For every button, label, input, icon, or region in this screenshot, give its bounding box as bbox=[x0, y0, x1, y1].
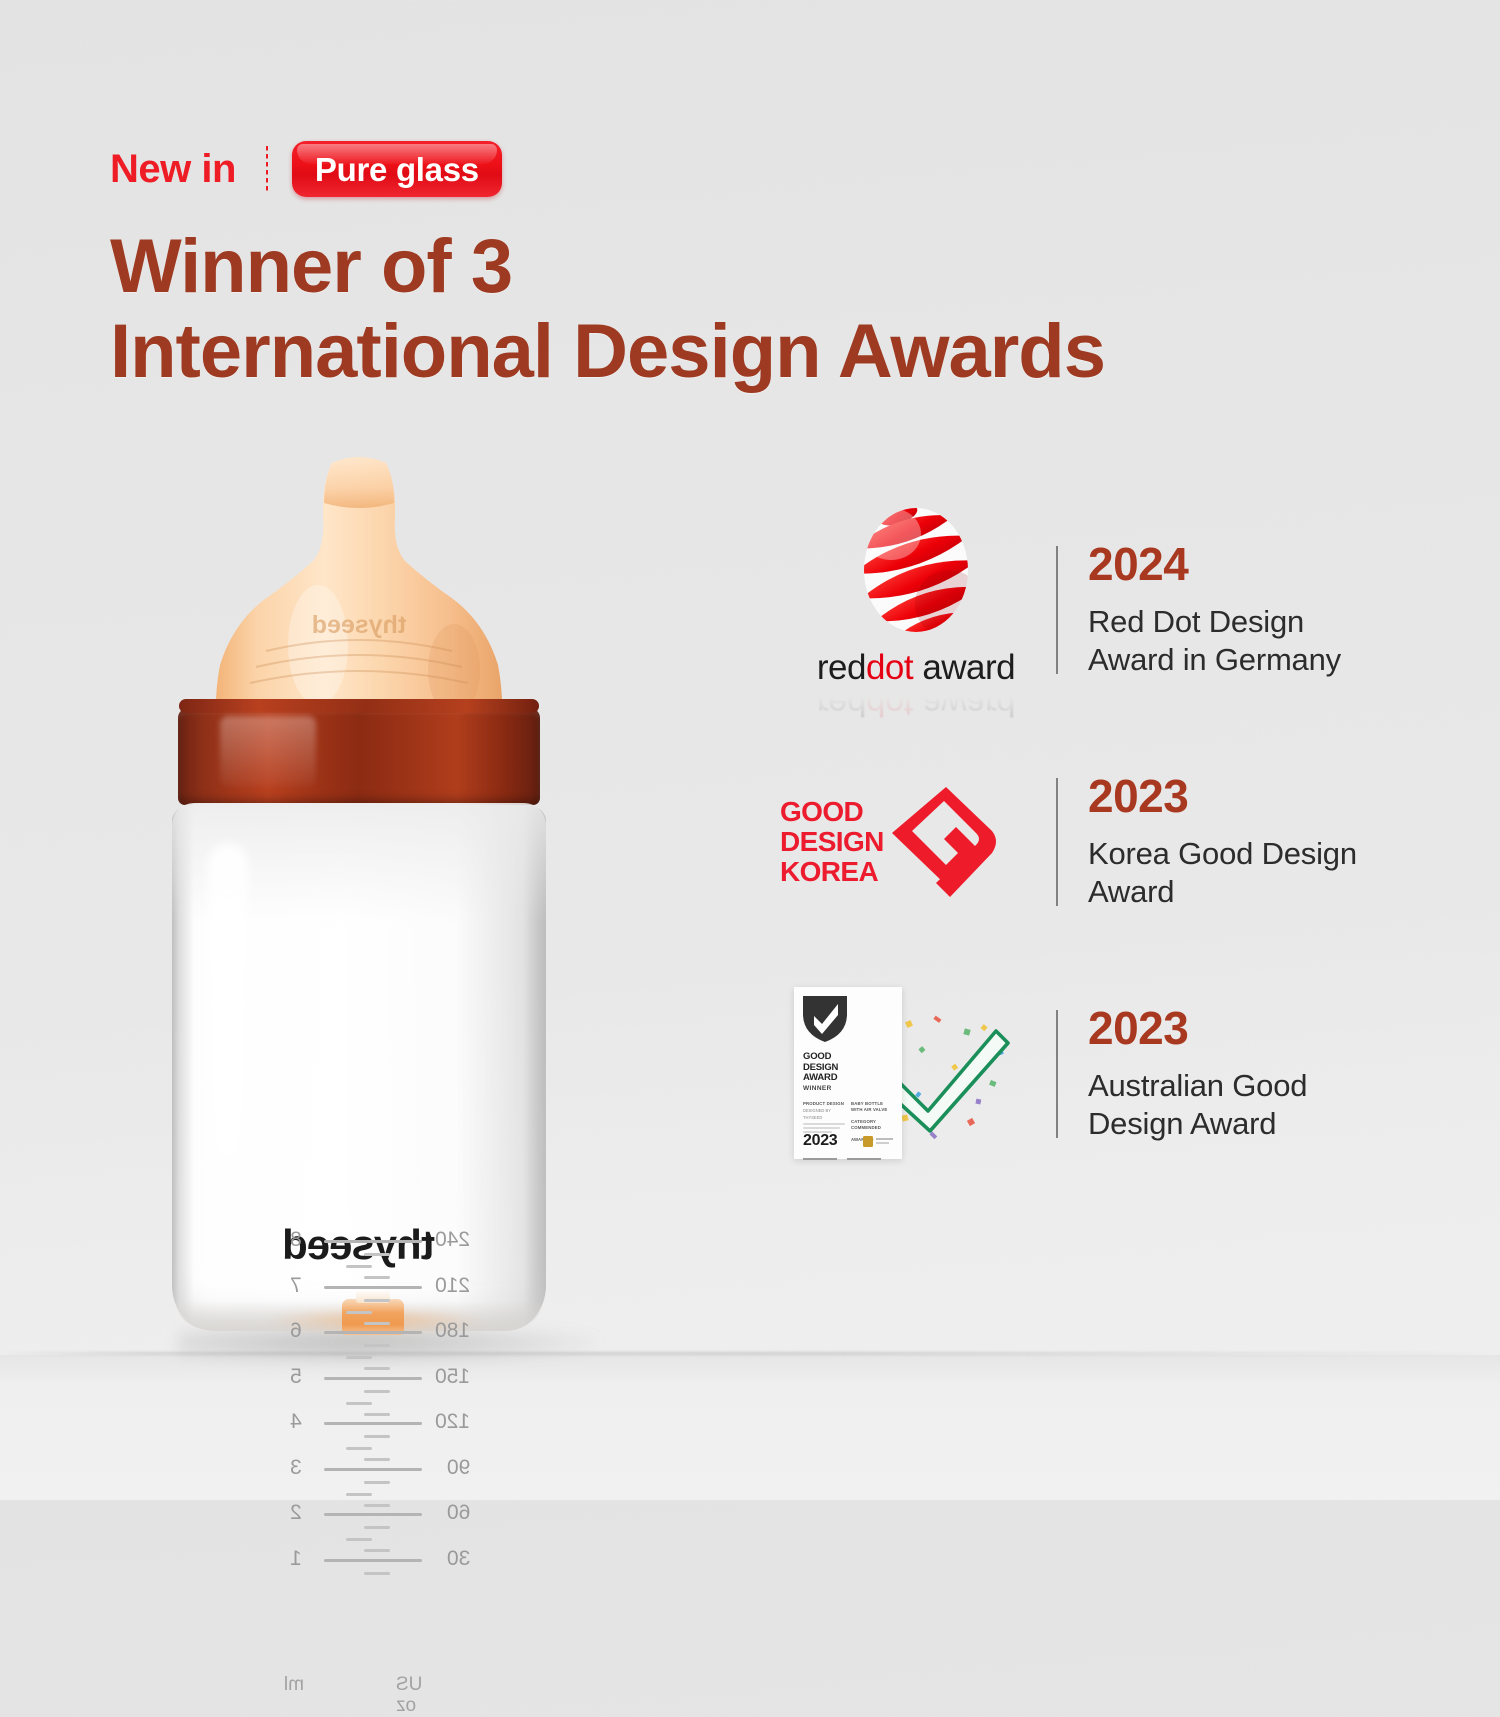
text-placeholder-bar bbox=[803, 1123, 845, 1125]
certificate-field-label-1: PRODUCT DESIGN bbox=[803, 1101, 845, 1107]
scale-oz: 4 bbox=[290, 1411, 302, 1432]
award-description: Australian Good Design Award bbox=[1088, 1067, 1420, 1144]
award-year: 2023 bbox=[1088, 1005, 1420, 1051]
scale-oz: 1 bbox=[290, 1548, 302, 1569]
good-design-korea-logo: GOOD DESIGN KOREA bbox=[780, 737, 1052, 947]
svg-text:thyseed: thyseed bbox=[312, 611, 406, 639]
award-item-good-design-korea: GOOD DESIGN KOREA 2023 Korea Good Design… bbox=[780, 737, 1420, 947]
australian-good-design-award-certificate: GOOD DESIGN AWARD WINNER PRODUCT DESIGN … bbox=[780, 969, 1052, 1179]
scale-ml: 30 bbox=[447, 1548, 470, 1569]
scale-row: 260 bbox=[290, 1514, 470, 1560]
scale-ml: 90 bbox=[447, 1457, 470, 1478]
unit-label-ml: ml bbox=[284, 1675, 304, 1696]
certificate-field-label-4: COMMENDED bbox=[851, 1125, 893, 1131]
good-design-award-checkmark-logo-icon bbox=[803, 996, 847, 1042]
collar-highlight bbox=[220, 716, 316, 786]
header: New in Pure glass Winner of 3 Internatio… bbox=[110, 140, 1105, 394]
reddot-sphere-icon bbox=[841, 500, 991, 648]
award-text: 2024 Red Dot Design Award in Germany bbox=[1088, 541, 1420, 680]
certificate-title: GOOD DESIGN AWARD bbox=[803, 1052, 893, 1084]
award-text: 2023 Australian Good Design Award bbox=[1088, 1005, 1420, 1144]
scale-ml: 180 bbox=[435, 1320, 470, 1341]
pure-glass-badge: Pure glass bbox=[292, 141, 502, 197]
measurement-scale: 8240 7210 6180 5150 4120 390 260 130 bbox=[290, 1241, 470, 1605]
certificate-seal-icon bbox=[863, 1135, 893, 1148]
award-item-australian-good-design: GOOD DESIGN AWARD WINNER PRODUCT DESIGN … bbox=[780, 969, 1420, 1179]
scale-ml: 120 bbox=[435, 1411, 470, 1432]
award-description: Korea Good Design Award bbox=[1088, 835, 1420, 912]
gdk-line-korea: KOREA bbox=[780, 857, 884, 887]
award-divider-rule bbox=[1056, 546, 1058, 674]
scale-row: 130 bbox=[290, 1560, 470, 1606]
scale-oz: 5 bbox=[290, 1366, 302, 1387]
certificate-card: GOOD DESIGN AWARD WINNER PRODUCT DESIGN … bbox=[794, 987, 902, 1159]
scale-oz: 7 bbox=[290, 1275, 302, 1296]
bottle-collar bbox=[178, 708, 540, 805]
scale-oz: 6 bbox=[290, 1320, 302, 1341]
scale-row: 390 bbox=[290, 1469, 470, 1515]
gdk-spiral-monogram-icon bbox=[888, 781, 1000, 903]
scale-ml: 210 bbox=[435, 1275, 470, 1296]
award-year: 2023 bbox=[1088, 773, 1420, 819]
gdk-wordmark: GOOD DESIGN KOREA bbox=[780, 797, 884, 888]
eyebrow-row: New in Pure glass bbox=[110, 140, 1105, 198]
certificate-year: 2023 bbox=[803, 1132, 837, 1150]
bottle-image: thyseed thyseed 8240 7210 6180 5150 4120… bbox=[158, 455, 558, 1380]
award-item-reddot: reddot award reddot award 2024 Red Dot D… bbox=[780, 505, 1420, 715]
certificate-reflection: 2023 bbox=[794, 1161, 1024, 1203]
page-title: Winner of 3 International Design Awards bbox=[110, 224, 1105, 394]
scale-row: 4120 bbox=[290, 1423, 470, 1469]
scale-oz: 3 bbox=[290, 1457, 302, 1478]
reddot-award-logo: reddot award reddot award bbox=[780, 505, 1052, 715]
bottle-glass-body: thyseed 8240 7210 6180 5150 4120 390 260… bbox=[172, 803, 546, 1331]
bottle-nipple: thyseed bbox=[214, 455, 504, 725]
certificate-field-label-2: BABY BOTTLE WITH AIR VALVE bbox=[851, 1101, 893, 1114]
eyebrow-label: New in bbox=[110, 149, 236, 189]
scale-oz: 8 bbox=[290, 1229, 302, 1250]
gdk-line-design: DESIGN bbox=[780, 827, 884, 857]
scale-ml: 60 bbox=[447, 1502, 470, 1523]
scale-ml: 150 bbox=[435, 1366, 470, 1387]
awards-list: reddot award reddot award 2024 Red Dot D… bbox=[780, 505, 1420, 1179]
reddot-wordmark-reflection: reddot award bbox=[791, 686, 1041, 721]
certificate-winner-label: WINNER bbox=[803, 1085, 893, 1092]
award-divider-rule bbox=[1056, 778, 1058, 906]
award-description: Red Dot Design Award in Germany bbox=[1088, 603, 1420, 680]
dotted-vertical-divider-icon bbox=[266, 146, 268, 192]
award-divider-rule bbox=[1056, 1010, 1058, 1138]
gdk-line-good: GOOD bbox=[780, 797, 884, 827]
scale-ml: 240 bbox=[435, 1229, 470, 1250]
unit-label-oz: US oz bbox=[396, 1675, 428, 1717]
glass-highlight bbox=[208, 843, 248, 1273]
pure-glass-badge-label: Pure glass bbox=[315, 153, 479, 186]
award-text: 2023 Korea Good Design Award bbox=[1088, 773, 1420, 912]
award-year: 2024 bbox=[1088, 541, 1420, 587]
text-placeholder-bar bbox=[803, 1127, 840, 1129]
scale-oz: 2 bbox=[290, 1502, 302, 1523]
reddot-wordmark: reddot award bbox=[791, 650, 1041, 685]
certificate-field-value-1: DESIGNED BY THYSEED bbox=[803, 1108, 845, 1121]
